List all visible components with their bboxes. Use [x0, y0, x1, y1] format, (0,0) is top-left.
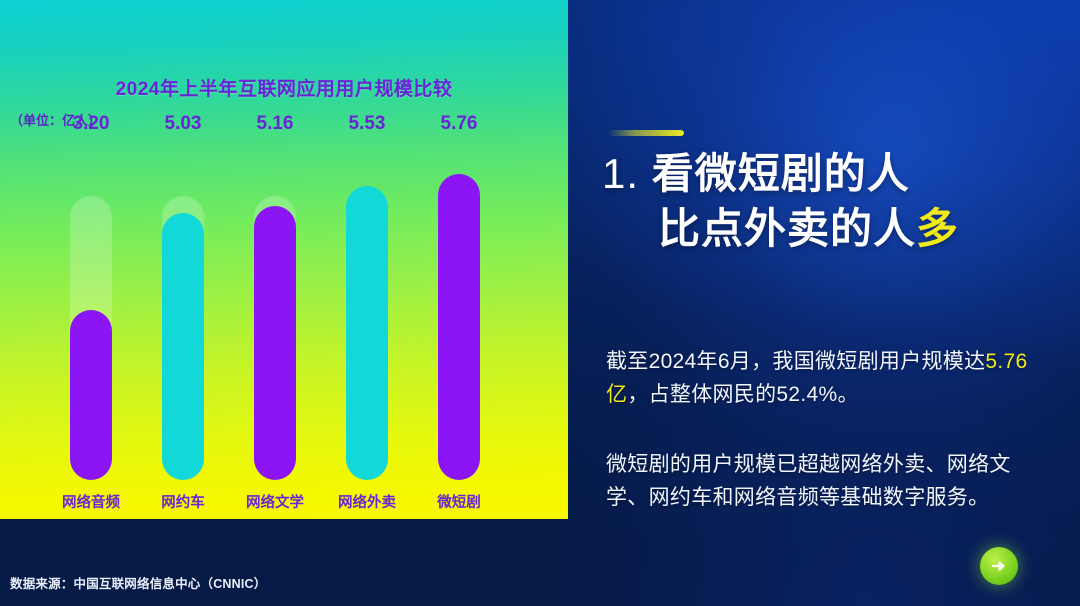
bar-category-label: 网络文学	[232, 491, 318, 512]
bar-column: 5.53网络外卖	[324, 140, 410, 480]
bar-column: 3.20网络音频	[48, 140, 134, 480]
accent-underline	[608, 130, 684, 136]
bar-fill	[162, 213, 204, 480]
bar-value-label: 5.76	[416, 113, 502, 135]
content-panel: 1. 看微短剧的人 比点外卖的人多 截至2024年6月，我国微短剧用户规模达5.…	[568, 0, 1080, 606]
bar-value-label: 5.03	[140, 113, 226, 135]
bar-category-label: 网络外卖	[324, 491, 410, 512]
bar-fill	[346, 186, 388, 480]
bar-category-label: 微短剧	[416, 491, 502, 512]
headline-line-2: 比点外卖的人多	[602, 201, 1072, 256]
bar-column: 5.03网约车	[140, 140, 226, 480]
paragraph-1-after: ，占整体网民的52.4%。	[627, 383, 858, 406]
arrow-right-icon	[989, 556, 1009, 576]
bar-column: 5.16网络文学	[232, 140, 318, 480]
bar-category-label: 网约车	[140, 491, 226, 512]
paragraph-1: 截至2024年6月，我国微短剧用户规模达5.76亿，占整体网民的52.4%。	[606, 345, 1046, 411]
bar-fill	[438, 174, 480, 480]
bar-fill	[70, 310, 112, 480]
slide-root: 2024年上半年互联网应用用户规模比较 （单位：亿人） 3.20网络音频5.03…	[0, 0, 1080, 606]
headline-line-1: 看微短剧的人	[652, 150, 910, 197]
bar-fill	[254, 206, 296, 480]
chart-panel: 2024年上半年互联网应用用户规模比较 （单位：亿人） 3.20网络音频5.03…	[0, 0, 568, 519]
bar-value-label: 5.16	[232, 113, 318, 135]
chart-title: 2024年上半年互联网应用用户规模比较	[0, 74, 568, 101]
bar-chart-plot: 3.20网络音频5.03网约车5.16网络文学5.53网络外卖5.76微短剧	[0, 140, 568, 480]
headline: 1. 看微短剧的人 比点外卖的人多	[602, 146, 1072, 257]
headline-highlight: 多	[916, 205, 959, 252]
data-source-note: 数据来源：中国互联网络信息中心（CNNIC）	[10, 573, 266, 592]
paragraph-1-before: 截至2024年6月，我国微短剧用户规模达	[606, 350, 985, 373]
headline-number: 1.	[602, 150, 639, 197]
bar-value-label: 5.53	[324, 113, 410, 135]
bar-category-label: 网络音频	[48, 491, 134, 512]
headline-line-2-main: 比点外卖的人	[658, 205, 916, 252]
paragraph-2: 微短剧的用户规模已超越网络外卖、网络文学、网约车和网络音频等基础数字服务。	[606, 448, 1046, 514]
bar-column: 5.76微短剧	[416, 140, 502, 480]
bar-value-label: 3.20	[48, 113, 134, 135]
next-slide-button[interactable]	[980, 547, 1018, 585]
